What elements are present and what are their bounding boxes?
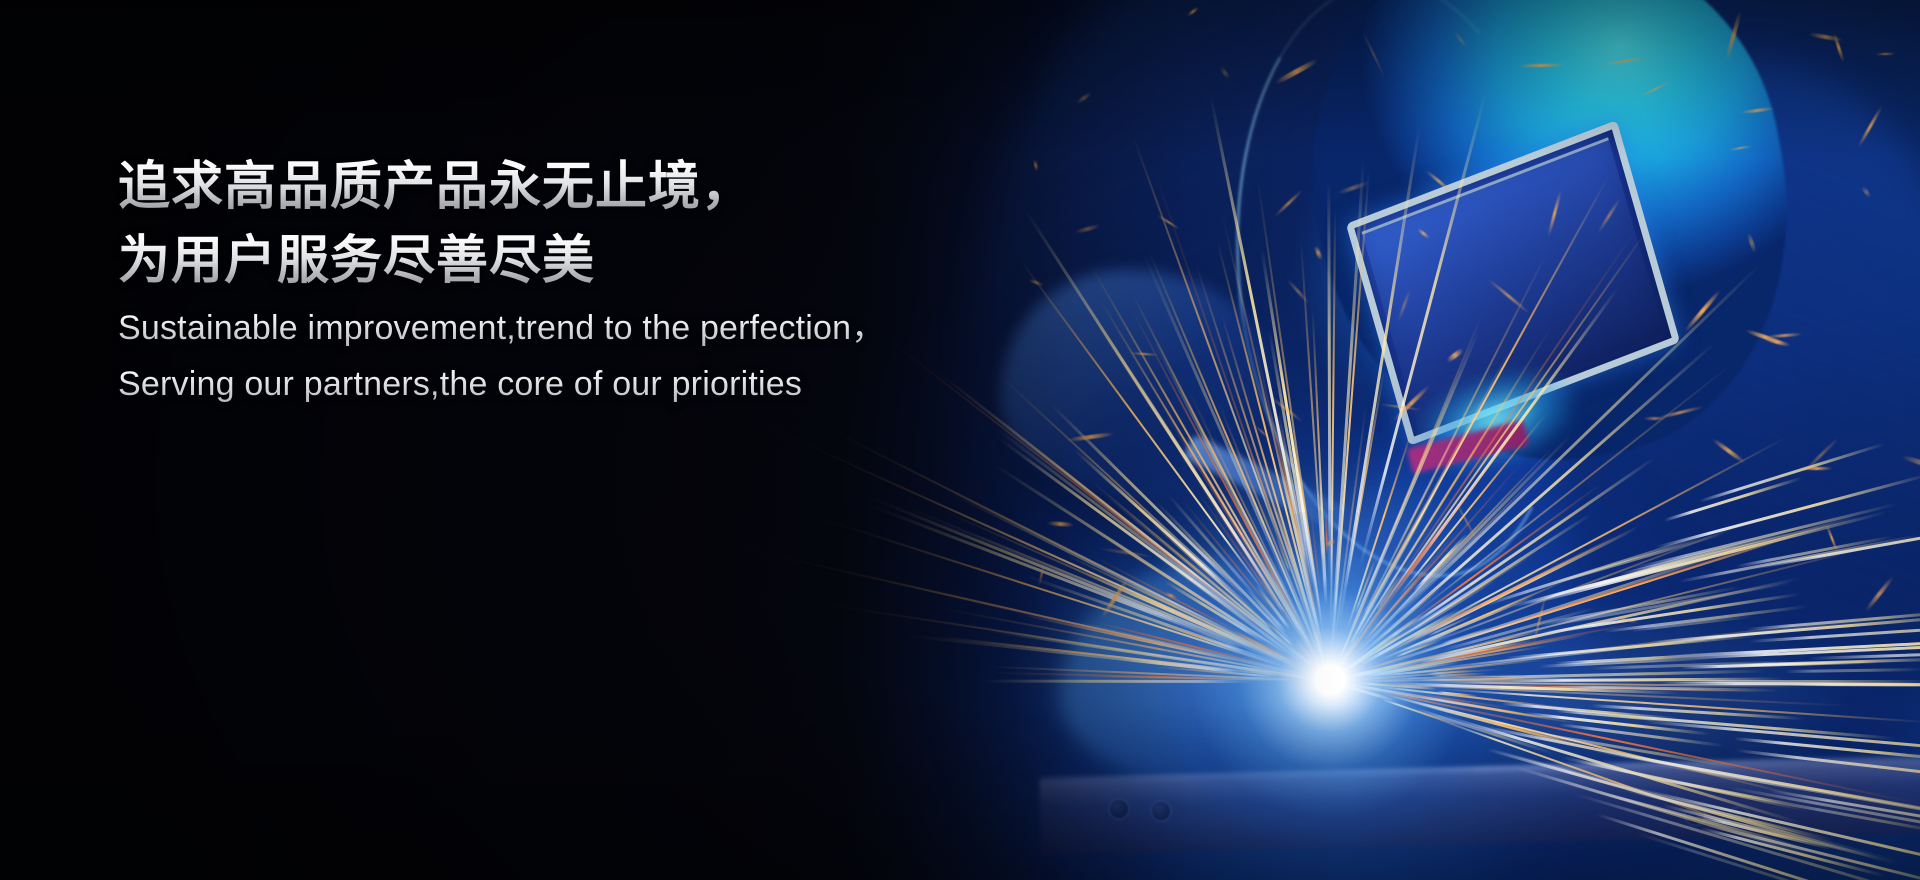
headline-cn-line-2: 为用户服务尽善尽美: [118, 224, 1118, 298]
headline-cn-line-1: 追求高品质产品永无止境，: [118, 150, 1118, 224]
hero-banner: 追求高品质产品永无止境， 为用户服务尽善尽美 Sustainable impro…: [0, 0, 1920, 880]
vignette-overlay: [0, 0, 1920, 880]
headline-en-line-2: Serving our partners,the core of our pri…: [118, 358, 1118, 410]
slogan-block: 追求高品质产品永无止境， 为用户服务尽善尽美 Sustainable impro…: [118, 150, 1118, 410]
headline-en-line-1: Sustainable improvement,trend to the per…: [118, 302, 1118, 354]
welding-scene-image: [0, 0, 1920, 880]
